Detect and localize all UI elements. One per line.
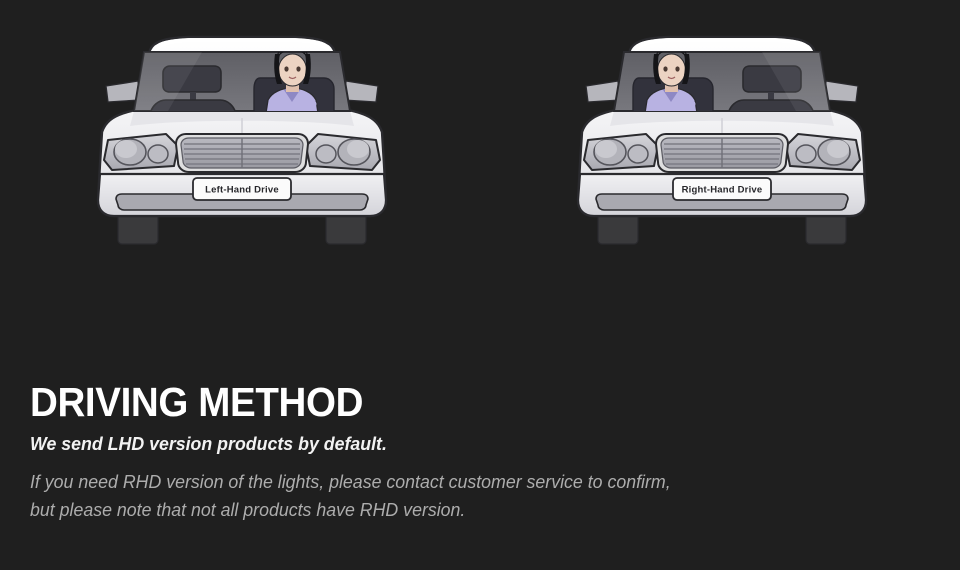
driving-method-banner: Left-Hand Drive [0, 0, 960, 570]
body-line-2: but please note that not all products ha… [30, 496, 856, 524]
headlight-right-rhd [584, 134, 658, 170]
subtitle-text: We send LHD version products by default. [30, 432, 856, 455]
car-illustration-rhd: Right-Hand Drive [562, 14, 882, 254]
body-line-1: If you need RHD version of the lights, p… [30, 468, 856, 496]
license-plate-rhd: Right-Hand Drive [673, 178, 771, 200]
front-grille-lhd [176, 134, 308, 172]
page-title: DRIVING METHOD [30, 382, 838, 423]
headlight-left-rhd [786, 134, 860, 170]
headlight-left-lhd [104, 134, 178, 170]
driving-method-text-block: DRIVING METHOD We send LHD version produ… [30, 382, 890, 524]
headlight-right-lhd [306, 134, 380, 170]
plate-label-lhd: Left-Hand Drive [205, 185, 279, 196]
front-grille-rhd [656, 134, 788, 172]
plate-label-rhd: Right-Hand Drive [682, 185, 763, 196]
license-plate-lhd: Left-Hand Drive [193, 178, 291, 200]
car-illustration-lhd: Left-Hand Drive [82, 14, 402, 254]
